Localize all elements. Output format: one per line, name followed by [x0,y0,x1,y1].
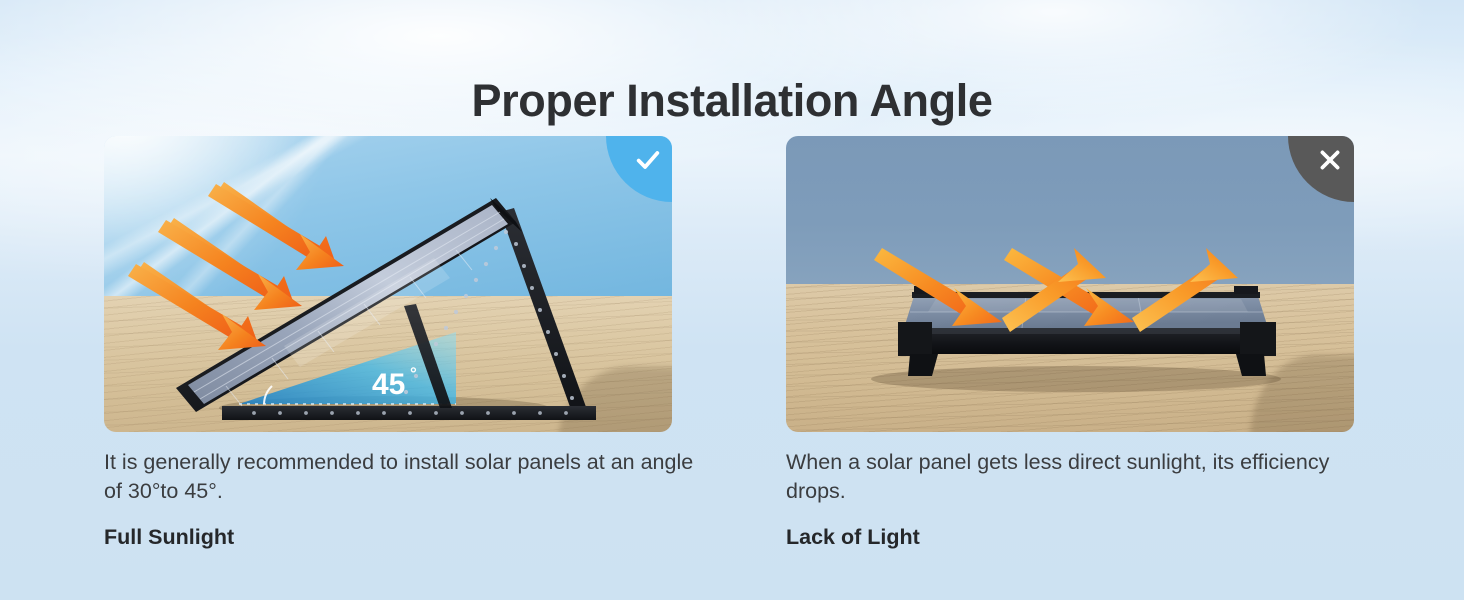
caption-lack-of-light: When a solar panel gets less direct sunl… [786,448,1386,550]
caption-body: It is generally recommended to install s… [104,448,704,505]
svg-text:°: ° [410,364,417,383]
caption-label: Lack of Light [786,525,1386,550]
tilted-solar-panel-illustration: 45 ° [104,136,672,432]
card-full-sunlight[interactable]: 45 ° [104,136,672,432]
caption-body: When a solar panel gets less direct sunl… [786,448,1386,505]
flat-solar-panel-illustration [786,136,1354,432]
card-lack-of-light[interactable] [786,136,1354,432]
close-icon [1316,146,1344,174]
page-title: Proper Installation Angle [0,75,1464,127]
infographic-page: Proper Installation Angle [0,0,1464,600]
check-icon [634,146,662,174]
caption-full-sunlight: It is generally recommended to install s… [104,448,704,550]
caption-label: Full Sunlight [104,525,704,550]
svg-text:45: 45 [372,368,405,401]
